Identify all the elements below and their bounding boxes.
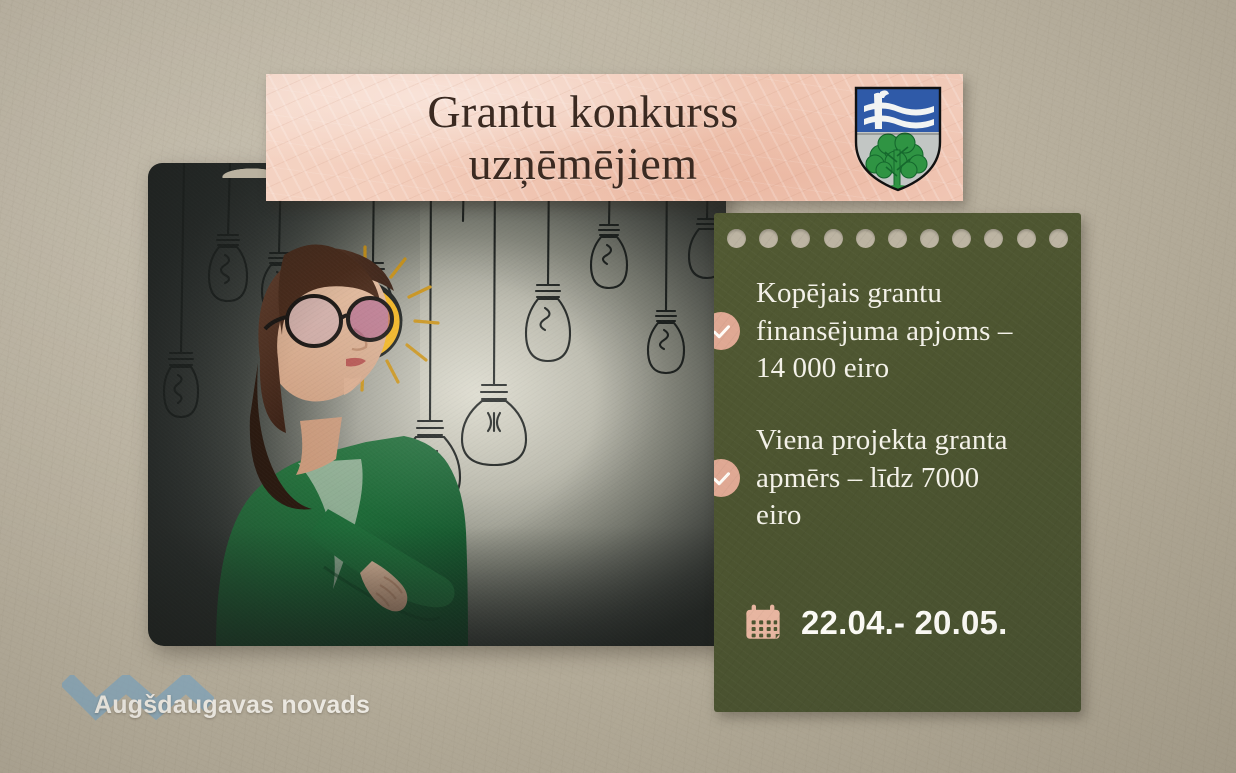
title-line-1: Grantu konkurss — [288, 86, 878, 138]
punch-hole — [952, 229, 971, 248]
check-icon — [714, 459, 740, 497]
punch-hole — [1049, 229, 1068, 248]
title-banner: Grantu konkurss uzņēmējiem — [266, 74, 963, 201]
bullet-list: Kopējais grantu finansējuma apjoms – 14 … — [714, 275, 1081, 535]
logo-text: Augšdaugavas novads — [94, 691, 370, 720]
punch-hole — [791, 229, 810, 248]
bullet-item: Kopējais grantu finansējuma apjoms – 14 … — [714, 275, 1081, 388]
info-panel: Kopējais grantu finansējuma apjoms – 14 … — [714, 213, 1081, 712]
punch-hole — [888, 229, 907, 248]
title-line-2: uzņēmējiem — [288, 138, 878, 190]
bullet-text: Viena projekta granta apmērs – līdz 7000… — [756, 422, 1024, 535]
page-title: Grantu konkurss uzņēmējiem — [288, 86, 878, 190]
punch-hole — [984, 229, 1003, 248]
punch-hole — [824, 229, 843, 248]
bullet-text: Kopējais grantu finansējuma apjoms – 14 … — [756, 275, 1024, 388]
augsdaugavas-coat-of-arms — [850, 84, 946, 194]
date-row: 22.04.- 20.05. — [742, 602, 1007, 644]
calendar-icon — [742, 602, 784, 644]
punch-hole — [759, 229, 778, 248]
bullet-item: Viena projekta granta apmērs – līdz 7000… — [714, 422, 1081, 535]
augsdaugavas-novads-logo: Augšdaugavas novads — [62, 677, 392, 739]
punch-hole — [1017, 229, 1036, 248]
date-range-label: 22.04.- 20.05. — [801, 604, 1007, 642]
punch-hole — [856, 229, 875, 248]
punch-hole — [727, 229, 746, 248]
photo-vignette — [148, 163, 726, 646]
woman-with-lightbulbs-photo — [148, 163, 726, 646]
punch-hole-row — [714, 229, 1081, 248]
punch-hole — [920, 229, 939, 248]
check-icon — [714, 312, 740, 350]
poster-canvas: Kopējais grantu finansējuma apjoms – 14 … — [0, 0, 1236, 773]
